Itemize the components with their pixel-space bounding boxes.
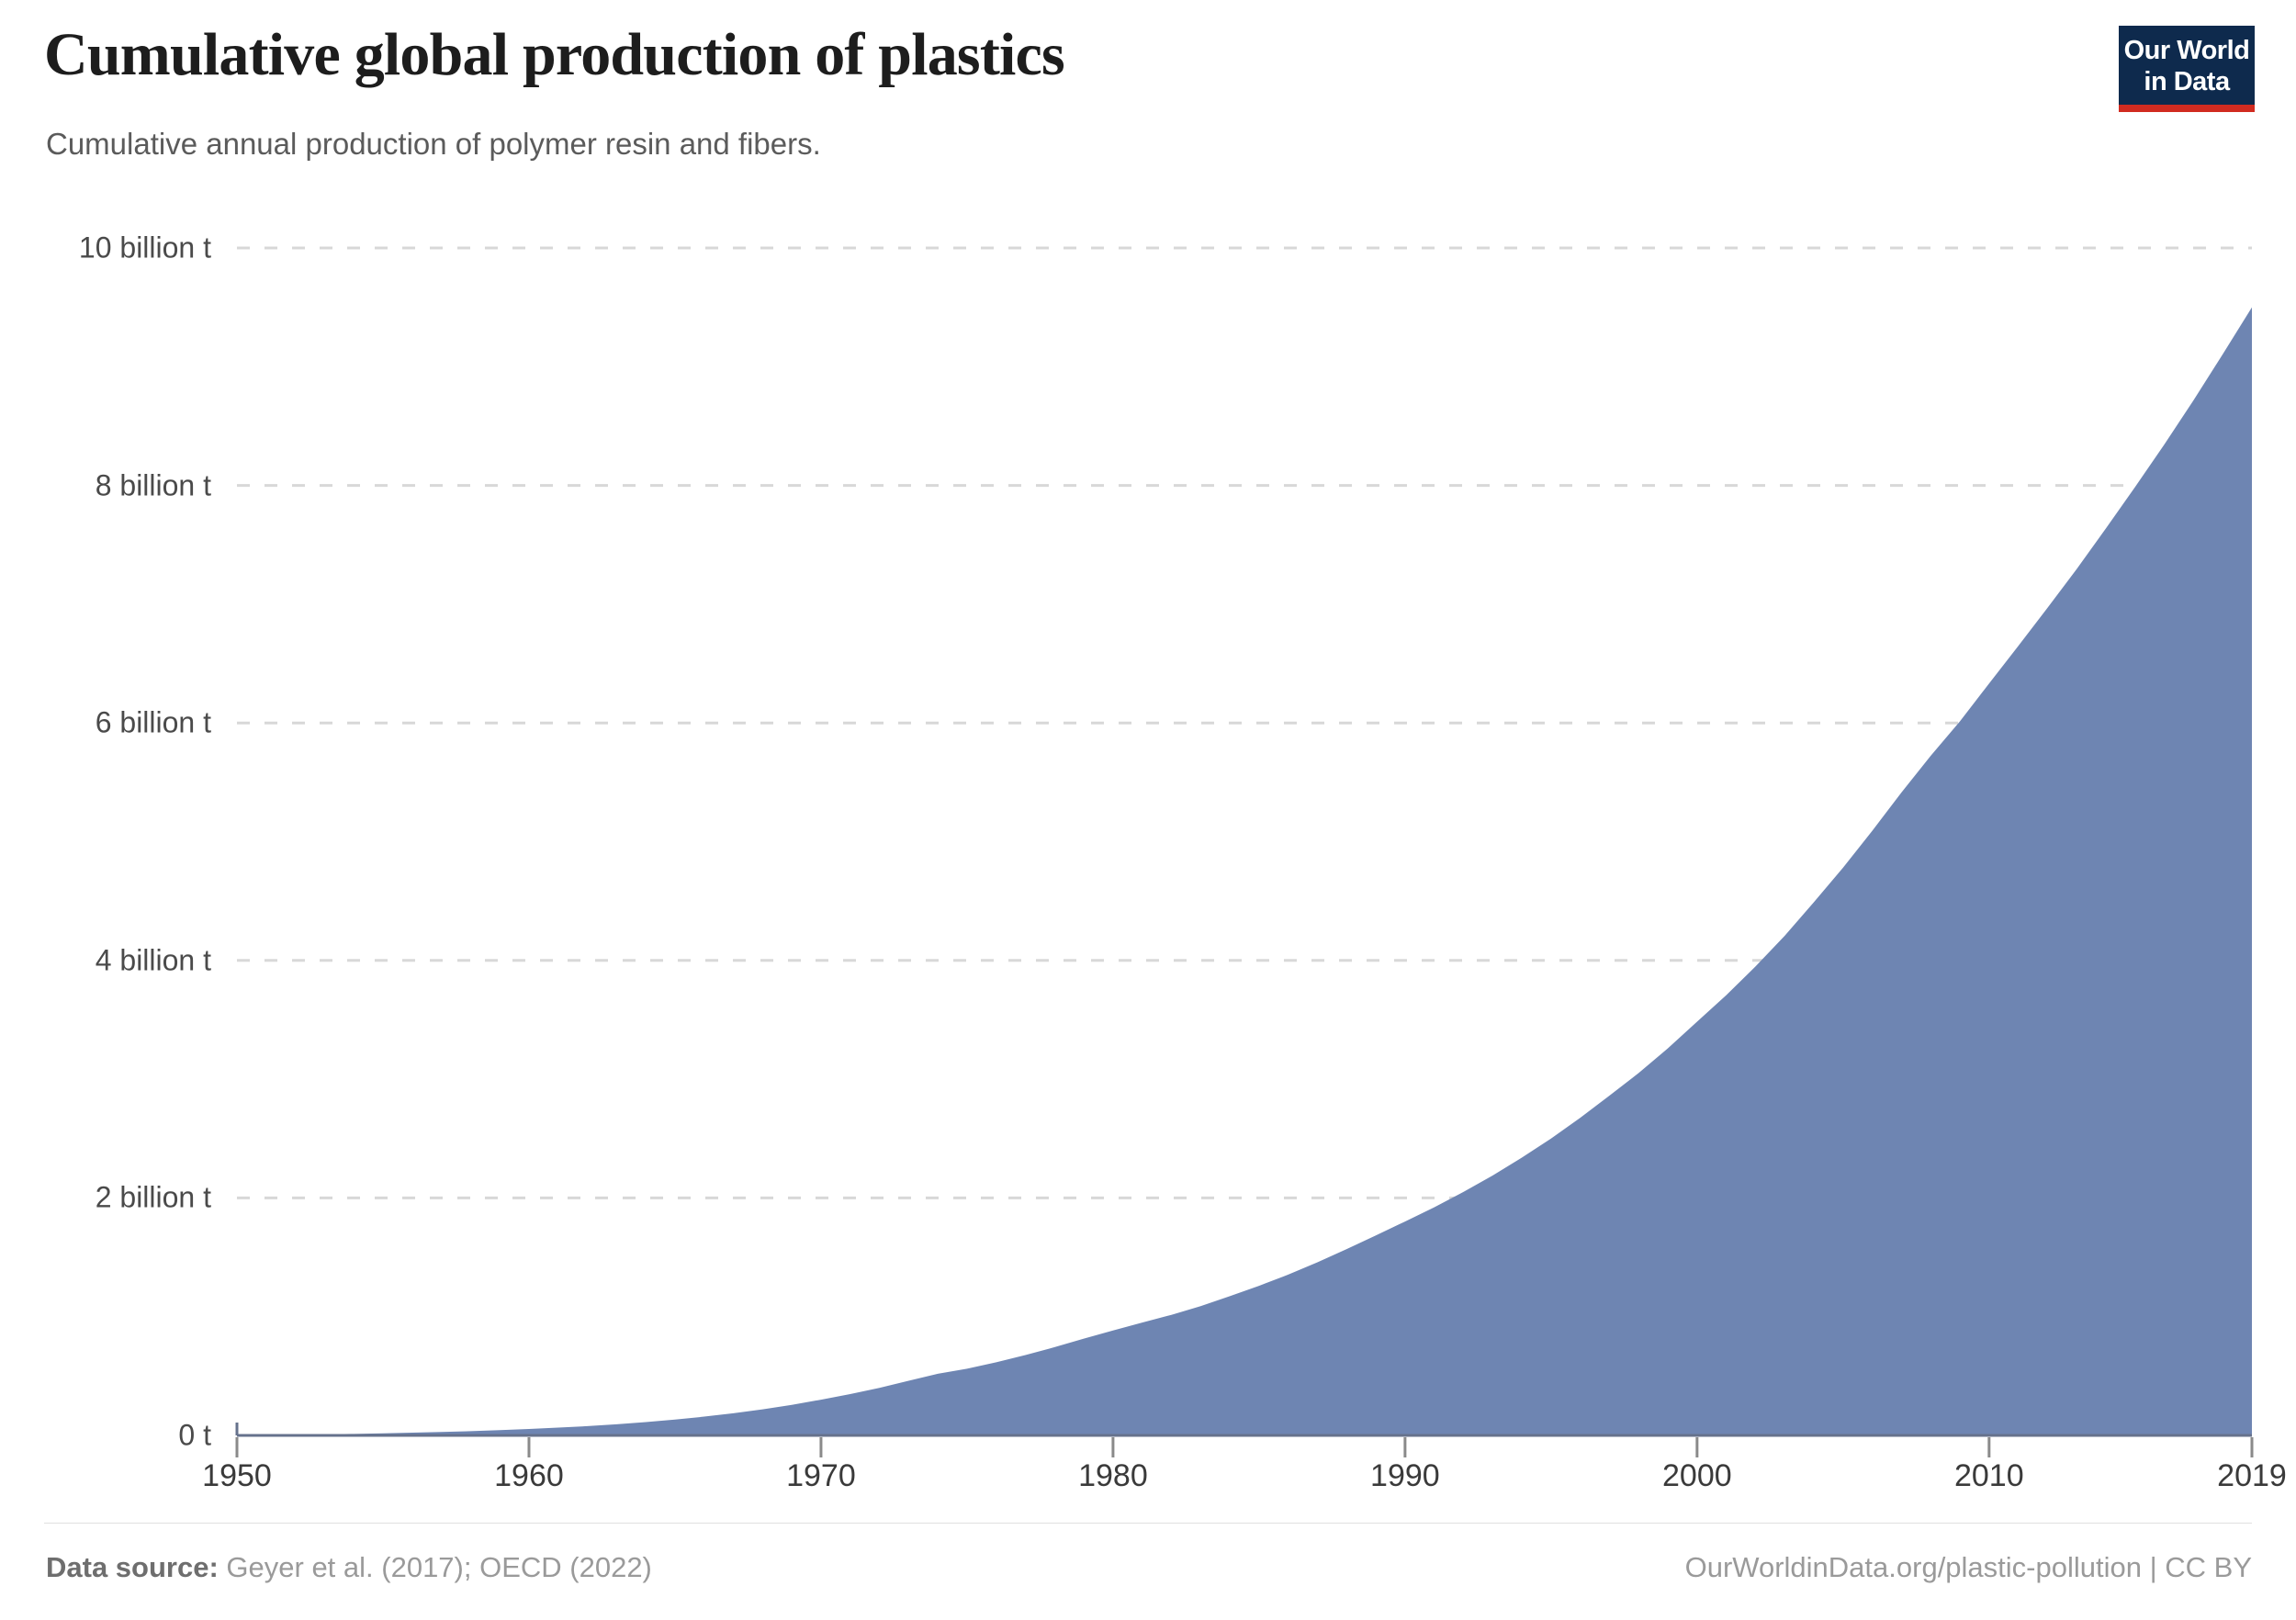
y-axis-tick-label: 0 t (0, 1419, 211, 1453)
data-source-label: Data source: (46, 1551, 219, 1583)
x-axis-ticks (237, 1437, 2252, 1457)
area-series-plastics[interactable] (237, 308, 2252, 1435)
x-axis-tick-label: 1970 (786, 1458, 856, 1494)
y-axis-tick-label: 8 billion t (0, 468, 211, 502)
license-link[interactable]: OurWorldinData.org/plastic-pollution | C… (1685, 1551, 2252, 1584)
plot-area-series[interactable] (237, 308, 2252, 1435)
x-axis-tick-label: 2019 (2217, 1458, 2287, 1494)
data-source-value: Geyer et al. (2017); OECD (2022) (219, 1551, 652, 1583)
y-axis-tick-label: 6 billion t (0, 706, 211, 740)
x-axis-tick-label: 1960 (494, 1458, 564, 1494)
x-axis-tick-label: 1980 (1078, 1458, 1148, 1494)
chart-footer: Data source: Geyer et al. (2017); OECD (… (0, 1523, 2296, 1620)
data-source: Data source: Geyer et al. (2017); OECD (… (46, 1551, 652, 1584)
y-axis-tick-label: 4 billion t (0, 943, 211, 977)
footer-divider (44, 1523, 2252, 1524)
y-axis-tick-label: 10 billion t (0, 231, 211, 265)
x-axis-tick-label: 2000 (1662, 1458, 1732, 1494)
area-chart: 0 t2 billion t4 billion t6 billion t8 bi… (0, 0, 2296, 1543)
y-axis-tick-label: 2 billion t (0, 1181, 211, 1215)
x-axis-tick-label: 2010 (1954, 1458, 2024, 1494)
x-axis-tick-label: 1950 (202, 1458, 272, 1494)
x-axis-tick-label: 1990 (1370, 1458, 1440, 1494)
chart-svg (0, 0, 2296, 1543)
